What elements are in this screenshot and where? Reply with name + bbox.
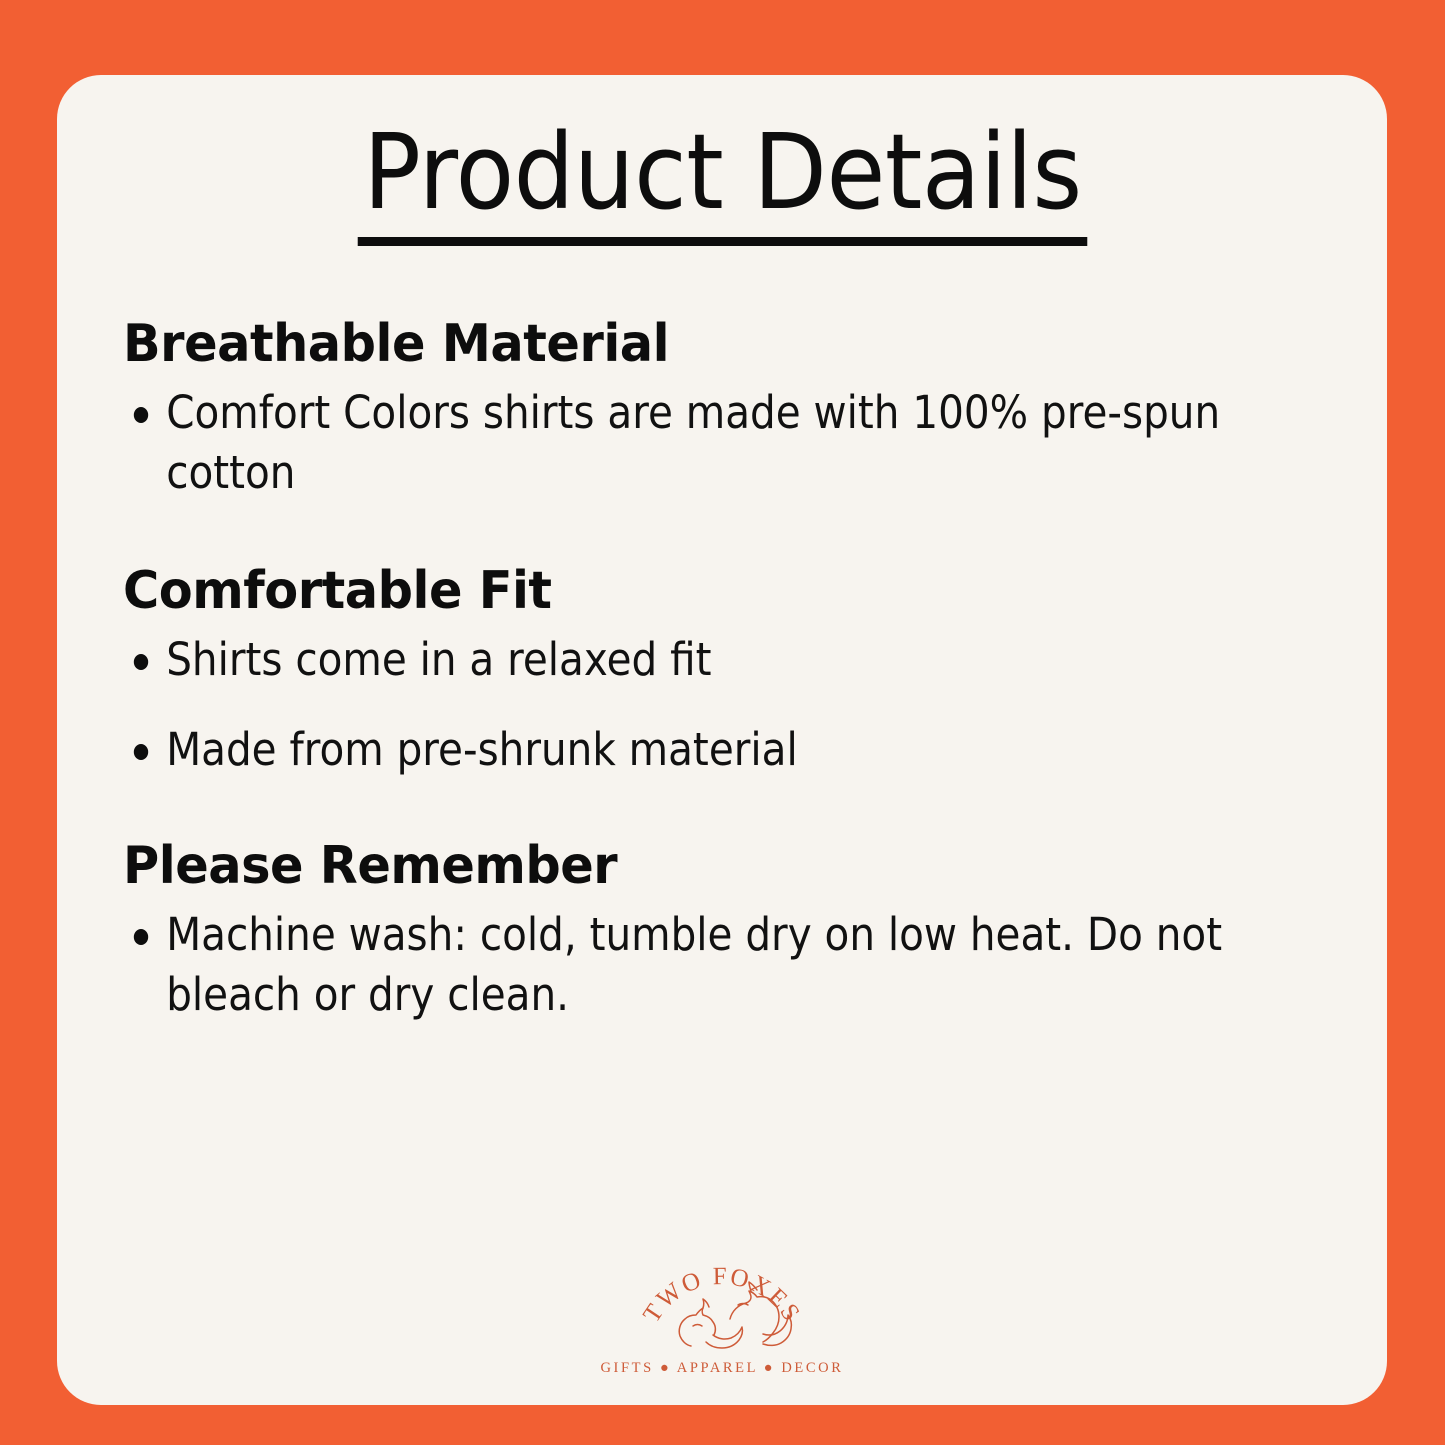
page-title-container: Product Details	[57, 117, 1387, 246]
product-details-card: Product Details Breathable Material Comf…	[57, 75, 1387, 1405]
list-item-text: Machine wash: cold, tumble dry on low he…	[166, 908, 1222, 1020]
bullet-list: Shirts come in a relaxed fit Made from p…	[123, 630, 1347, 779]
two-foxes-icon: TWO FOXES	[627, 1250, 817, 1358]
list-item-text: Made from pre-shrunk material	[166, 723, 798, 776]
page-title: Product Details	[357, 117, 1087, 246]
poster-canvas: Product Details Breathable Material Comf…	[0, 0, 1445, 1445]
list-item: Machine wash: cold, tumble dry on low he…	[123, 905, 1225, 1024]
list-item: Comfort Colors shirts are made with 100%…	[123, 383, 1225, 502]
list-item: Made from pre-shrunk material	[123, 720, 1225, 779]
list-item-text: Shirts come in a relaxed fit	[166, 633, 711, 686]
section-comfortable-fit: Comfortable Fit Shirts come in a relaxed…	[123, 562, 1347, 779]
section-breathable-material: Breathable Material Comfort Colors shirt…	[123, 315, 1347, 502]
bullet-dot-icon	[134, 929, 148, 945]
bullet-dot-icon	[134, 654, 148, 670]
section-please-remember: Please Remember Machine wash: cold, tumb…	[123, 837, 1347, 1024]
bullet-dot-icon	[134, 407, 148, 423]
bullet-list: Machine wash: cold, tumble dry on low he…	[123, 905, 1347, 1024]
bullet-dot-icon	[134, 744, 148, 760]
bullet-list: Comfort Colors shirts are made with 100%…	[123, 383, 1347, 502]
brand-logo: TWO FOXES GIFTS ● APPAREL ● DECOR	[572, 1250, 872, 1377]
list-item-text: Comfort Colors shirts are made with 100%…	[166, 386, 1220, 498]
section-heading: Comfortable Fit	[123, 562, 1286, 620]
list-item: Shirts come in a relaxed fit	[123, 630, 1225, 689]
logo-tagline: GIFTS ● APPAREL ● DECOR	[572, 1360, 872, 1377]
section-heading: Breathable Material	[123, 315, 1286, 373]
details-content: Breathable Material Comfort Colors shirt…	[123, 315, 1347, 1024]
section-heading: Please Remember	[123, 837, 1286, 895]
svg-text:TWO FOXES: TWO FOXES	[638, 1263, 806, 1327]
